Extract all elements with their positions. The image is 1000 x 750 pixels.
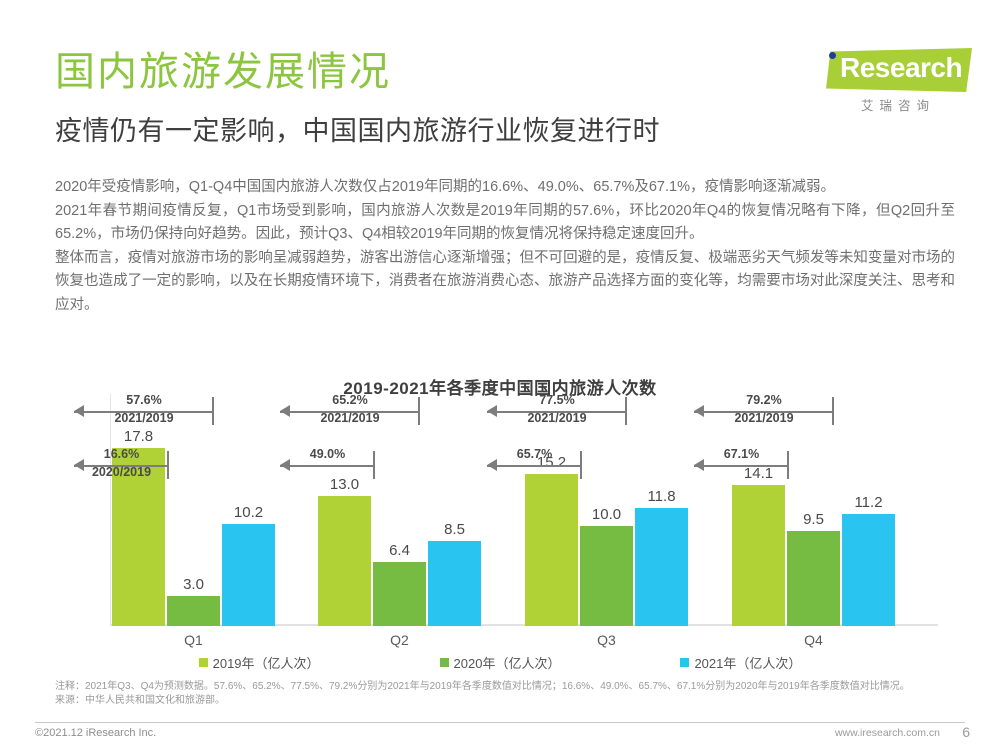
slide: Research 艾瑞咨询 国内旅游发展情况 疫情仍有一定影响，中国国内旅游行业… bbox=[0, 0, 1000, 750]
bar-q2-2020年[interactable]: 6.4 bbox=[373, 562, 426, 626]
footer-copyright: ©2021.12 iResearch Inc. bbox=[35, 727, 156, 739]
body-text: 2020年受疫情影响，Q1-Q4中国国内旅游人次数仅占2019年同期的16.6%… bbox=[55, 176, 955, 317]
bar-value-label: 3.0 bbox=[167, 576, 220, 596]
annotation-2021-2019-q1: 57.6%2021/2019 bbox=[74, 394, 214, 428]
annotation-line bbox=[487, 465, 582, 467]
paragraph-1: 2020年受疫情影响，Q1-Q4中国国内旅游人次数仅占2019年同期的16.6%… bbox=[55, 176, 955, 200]
bar-q1-2020年[interactable]: 3.0 bbox=[167, 596, 220, 626]
footnote-source: 来源：中华人民共和国文化和旅游部。 bbox=[55, 694, 955, 708]
logo-i-dot-icon bbox=[829, 52, 836, 59]
bar-chart: 17.83.010.2Q113.06.48.5Q215.210.011.8Q31… bbox=[55, 398, 945, 648]
bar-value-label: 6.4 bbox=[373, 542, 426, 562]
paragraph-2: 2021年春节期间疫情反复，Q1市场受到影响，国内旅游人次数是2019年同期的5… bbox=[55, 200, 955, 247]
legend-label: 2020年（亿人次） bbox=[454, 653, 561, 672]
bar-q3-2021年[interactable]: 11.8 bbox=[635, 508, 688, 626]
annotation-2020-2019-q1: 16.6%2020/2019 bbox=[74, 448, 169, 482]
bar-q2-2021年[interactable]: 8.5 bbox=[428, 541, 481, 626]
legend-swatch-icon bbox=[680, 658, 689, 667]
annotation-value: 49.0% bbox=[280, 447, 375, 461]
bar-value-label: 10.0 bbox=[580, 506, 633, 526]
annotation-2021-2019-q3: 77.5%2021/2019 bbox=[487, 394, 627, 428]
logo-subtitle: 艾瑞咨询 bbox=[802, 95, 972, 114]
bar-value-label: 8.5 bbox=[428, 521, 481, 541]
annotation-caption: 2020/2019 bbox=[74, 465, 169, 479]
logo-wordmark: Research bbox=[840, 52, 962, 84]
footer-website: www.iresearch.com.cn bbox=[835, 727, 940, 739]
annotation-2020-2019-q4: 67.1% bbox=[694, 448, 789, 482]
chart-legend: 2019年（亿人次）2020年（亿人次）2021年（亿人次） bbox=[0, 653, 1000, 672]
annotation-2020-2019-q2: 49.0% bbox=[280, 448, 375, 482]
bar-q4-2020年[interactable]: 9.5 bbox=[787, 531, 840, 626]
legend-label: 2019年（亿人次） bbox=[213, 653, 320, 672]
legend-item-2019年[interactable]: 2019年（亿人次） bbox=[199, 653, 320, 672]
chart-category-label: Q4 bbox=[732, 626, 895, 648]
annotation-line bbox=[694, 465, 789, 467]
chart-plot-area: 17.83.010.2Q113.06.48.5Q215.210.011.8Q31… bbox=[55, 398, 945, 648]
chart-category-label: Q3 bbox=[525, 626, 688, 648]
bar-value-label: 9.5 bbox=[787, 511, 840, 531]
bar-value-label: 10.2 bbox=[222, 504, 275, 524]
annotation-2020-2019-q3: 65.7% bbox=[487, 448, 582, 482]
annotation-value: 65.2% bbox=[280, 393, 420, 407]
chart-category-label: Q2 bbox=[318, 626, 481, 648]
bar-q3-2019年[interactable]: 15.2 bbox=[525, 474, 578, 626]
annotation-value: 67.1% bbox=[694, 447, 789, 461]
annotation-caption: 2021/2019 bbox=[694, 411, 834, 425]
annotation-value: 57.6% bbox=[74, 393, 214, 407]
annotation-caption: 2021/2019 bbox=[280, 411, 420, 425]
annotation-line bbox=[280, 465, 375, 467]
annotation-caption: 2021/2019 bbox=[74, 411, 214, 425]
bar-q4-2021年[interactable]: 11.2 bbox=[842, 514, 895, 626]
page-number: 6 bbox=[962, 724, 970, 740]
page-subtitle: 疫情仍有一定影响，中国国内旅游行业恢复进行时 bbox=[55, 115, 660, 147]
annotation-value: 77.5% bbox=[487, 393, 627, 407]
bar-value-label: 11.2 bbox=[842, 494, 895, 514]
footer-divider bbox=[35, 722, 965, 723]
bar-q4-2019年[interactable]: 14.1 bbox=[732, 485, 785, 626]
bar-q1-2021年[interactable]: 10.2 bbox=[222, 524, 275, 626]
bar-value-label: 11.8 bbox=[635, 488, 688, 508]
page-title: 国内旅游发展情况 bbox=[55, 50, 391, 94]
chart-footnote: 注释：2021年Q3、Q4为预测数据。57.6%、65.2%、77.5%、79.… bbox=[55, 680, 955, 707]
annotation-value: 79.2% bbox=[694, 393, 834, 407]
logo-i-stem-icon bbox=[830, 62, 835, 84]
annotation-caption: 2021/2019 bbox=[487, 411, 627, 425]
annotation-value: 65.7% bbox=[487, 447, 582, 461]
chart-y-axis bbox=[110, 394, 111, 626]
legend-label: 2021年（亿人次） bbox=[694, 653, 801, 672]
footnote-note: 注释：2021年Q3、Q4为预测数据。57.6%、65.2%、77.5%、79.… bbox=[55, 680, 955, 694]
iresearch-logo: Research 艾瑞咨询 bbox=[802, 44, 972, 116]
legend-swatch-icon bbox=[440, 658, 449, 667]
annotation-2021-2019-q4: 79.2%2021/2019 bbox=[694, 394, 834, 428]
chart-category-label: Q1 bbox=[112, 626, 275, 648]
logo-mark: Research bbox=[802, 44, 972, 92]
legend-swatch-icon bbox=[199, 658, 208, 667]
legend-item-2020年[interactable]: 2020年（亿人次） bbox=[440, 653, 561, 672]
annotation-2021-2019-q2: 65.2%2021/2019 bbox=[280, 394, 420, 428]
legend-item-2021年[interactable]: 2021年（亿人次） bbox=[680, 653, 801, 672]
paragraph-3: 整体而言，疫情对旅游市场的影响呈减弱趋势，游客出游信心逐渐增强；但不可回避的是，… bbox=[55, 247, 955, 318]
bar-value-label: 17.8 bbox=[112, 428, 165, 448]
annotation-value: 16.6% bbox=[74, 447, 169, 461]
bar-q3-2020年[interactable]: 10.0 bbox=[580, 526, 633, 626]
bar-q2-2019年[interactable]: 13.0 bbox=[318, 496, 371, 626]
